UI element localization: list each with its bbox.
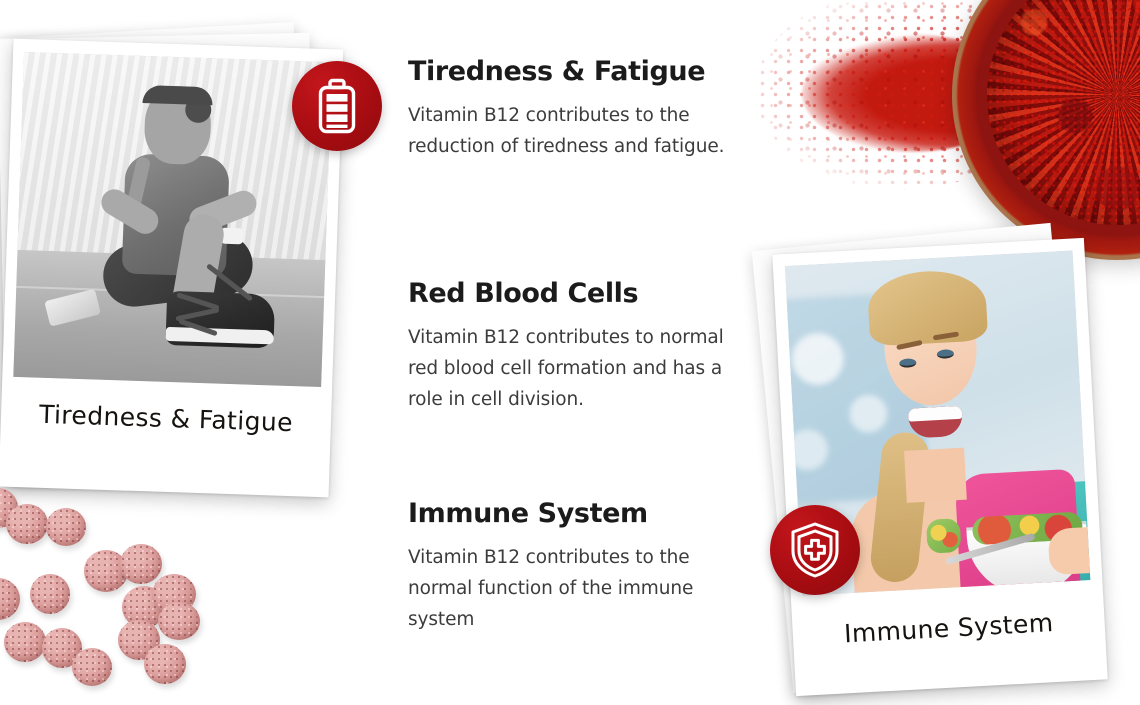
photo-mouth xyxy=(908,405,964,438)
benefit-block-immune-system: Immune System Vitamin B12 contributes to… xyxy=(408,498,753,635)
shield-icon-badge xyxy=(770,505,860,595)
photo-wristwatch xyxy=(221,228,244,245)
tablet xyxy=(144,644,186,684)
photo-fork-salad-bite xyxy=(926,518,962,554)
bowl-powder-grain xyxy=(987,0,1140,225)
benefit-body: Vitamin B12 contributes to the reduction… xyxy=(408,100,753,162)
photo-hair xyxy=(866,269,988,347)
benefit-body: Vitamin B12 contributes to normal red bl… xyxy=(408,322,753,415)
benefit-heading: Tiredness & Fatigue xyxy=(408,56,753,87)
battery-icon xyxy=(314,78,360,134)
tablet xyxy=(158,602,200,640)
polaroid-caption-immune: Immune System xyxy=(792,605,1105,651)
photo-teeth xyxy=(908,405,963,422)
tablet xyxy=(6,504,48,544)
benefit-heading: Immune System xyxy=(408,498,753,529)
photo-neck xyxy=(905,448,968,503)
polaroid-immune-system: Immune System xyxy=(772,238,1107,696)
photo-artwork-gym xyxy=(13,52,332,387)
benefit-heading: Red Blood Cells xyxy=(408,278,753,309)
benefit-block-tiredness: Tiredness & Fatigue Vitamin B12 contribu… xyxy=(408,56,753,162)
tablet xyxy=(46,508,86,546)
pink-tablets-decoration xyxy=(0,486,236,705)
photo-woman-tying-laces xyxy=(13,52,332,387)
tablet xyxy=(0,578,20,620)
red-powder-bowl xyxy=(952,0,1140,260)
shield-plus-icon xyxy=(789,521,841,579)
battery-icon-badge xyxy=(292,61,382,151)
tablet xyxy=(72,648,112,686)
infographic-stage: Tiredness & Fatigue xyxy=(0,0,1140,705)
tablet xyxy=(30,574,70,614)
polaroid-caption-tiredness: Tiredness & Fatigue xyxy=(1,398,332,438)
tablet xyxy=(120,544,162,584)
photo-headband xyxy=(143,85,214,105)
tablet xyxy=(4,622,46,662)
benefit-block-red-blood-cells: Red Blood Cells Vitamin B12 contributes … xyxy=(408,278,753,415)
benefit-body: Vitamin B12 contributes to the normal fu… xyxy=(408,542,753,635)
